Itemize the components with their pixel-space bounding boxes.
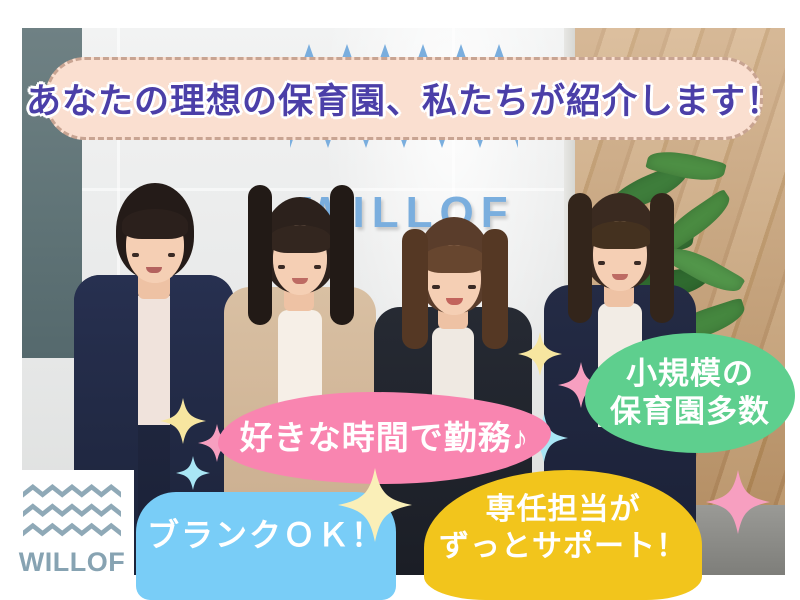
bubble-green-line1: 小規模の [626, 356, 754, 391]
willof-logo-card: WILLOF [10, 470, 134, 590]
sparkle-pink-right-icon [706, 470, 770, 534]
bubble-green-line2: 保育園多数 [610, 394, 770, 429]
bubble-pink-line1: 好きな時間で勤務♪ [240, 418, 530, 458]
bubble-yellow-line1: 専任担当が [486, 493, 641, 526]
sparkle-cream-bottom-icon [338, 468, 412, 542]
sparkle-cyan-left-icon [176, 456, 210, 490]
bubble-yellow-line2: ずっとサポート！ [439, 530, 687, 563]
header-banner: あなたの理想の保育園、私たちが紹介します！ [45, 57, 763, 140]
sparkle-yellow-mid-icon [518, 332, 562, 376]
willof-wordmark: WILLOF [19, 549, 125, 576]
header-headline: あなたの理想の保育園、私たちが紹介します！ [26, 73, 782, 124]
willof-zigzag-icon [23, 484, 121, 546]
banner-canvas: WILLOF [0, 0, 800, 600]
